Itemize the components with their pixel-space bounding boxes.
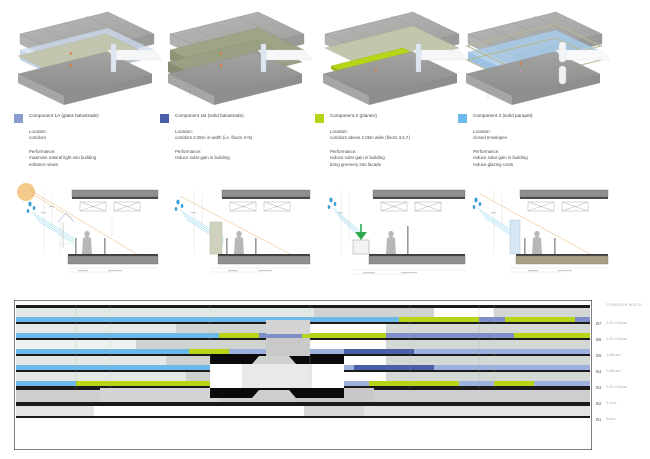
legend-component-1b: Component 1B (solid balustrade) Location… bbox=[160, 113, 335, 162]
floor-label-row-b5: B5 2.05max. bbox=[596, 353, 650, 363]
legend-2-title: Component 2 (planter) bbox=[330, 113, 377, 119]
section-drawings-row bbox=[0, 182, 650, 286]
section-1a-graphic bbox=[8, 182, 160, 286]
rain-icon bbox=[175, 200, 184, 211]
legend-1a-location: Location: corridors bbox=[29, 129, 164, 142]
human-figure-icon bbox=[82, 231, 92, 256]
isometric-1a-graphic bbox=[12, 4, 162, 112]
performance-value-2: bring greenery into facade bbox=[330, 162, 475, 168]
floor-label-row-b3: B3 2.05-4.6max. bbox=[596, 385, 650, 395]
legend-1b-performance: Performance: reduce solar gain in buildi… bbox=[175, 149, 335, 162]
human-figure-icon bbox=[532, 231, 542, 256]
lower-slab bbox=[218, 256, 310, 264]
human-figure-icon bbox=[234, 231, 244, 256]
legend-2-header: Component 2 (planter) bbox=[315, 113, 475, 123]
floor-label-row-b1: B1 0max. bbox=[596, 417, 650, 427]
legend-3-performance: Performance: reduce solar gain in buildi… bbox=[473, 149, 628, 168]
section-component-1a bbox=[8, 182, 160, 286]
lower-slab bbox=[68, 256, 158, 264]
isometric-1b-graphic bbox=[162, 4, 312, 112]
floor-label-row-b6: B6 2.05-4.6max. bbox=[596, 337, 650, 347]
legend-1a-header: Component 1A (glass balustrade) bbox=[14, 113, 164, 123]
corridor-width-value: 2.05max. bbox=[606, 353, 622, 357]
performance-value-2: reduce glazing costs bbox=[473, 162, 628, 168]
isometric-row bbox=[0, 0, 650, 112]
legend-3-title: Component 3 (solid parapet) bbox=[473, 113, 533, 119]
swatch-icon-1b bbox=[160, 114, 169, 123]
floor-id: B1 bbox=[596, 417, 601, 422]
section-1b-graphic bbox=[160, 182, 312, 286]
isometric-component-1b bbox=[162, 4, 312, 112]
section-component-3 bbox=[458, 182, 610, 286]
location-value: corridors 2.05m in width (i.e. floors 4+… bbox=[175, 135, 335, 141]
performance-value-2: enhance views bbox=[29, 162, 164, 168]
swatch-icon-2 bbox=[315, 114, 324, 123]
floor-id: B2 bbox=[596, 401, 601, 406]
legend-component-3: Component 3 (solid parapet) Location: cl… bbox=[458, 113, 628, 168]
section-component-1b bbox=[160, 182, 312, 286]
corridor-width-value: 2.05max. bbox=[606, 369, 622, 373]
section-3-graphic bbox=[458, 182, 610, 286]
floor-label-row-b4: B4 2.05max. bbox=[596, 369, 650, 379]
corridor-width-header: CORRIDOR WIDTH bbox=[606, 303, 642, 307]
legend-2-location: Location: corridors above 2.05m wide (fl… bbox=[330, 129, 475, 142]
rain-icon bbox=[27, 202, 36, 213]
legend-1a-title: Component 1A (glass balustrade) bbox=[29, 113, 99, 119]
ceiling-truss bbox=[528, 202, 588, 211]
swatch-icon-1a bbox=[14, 114, 23, 123]
legend-3-location: Location: closed envelopes bbox=[473, 129, 628, 142]
section-component-2 bbox=[315, 182, 467, 286]
corridor-width-value: 2.05-4.6max. bbox=[606, 321, 628, 325]
location-value: closed envelopes bbox=[473, 135, 628, 141]
ceiling-truss bbox=[381, 202, 441, 211]
swatch-icon-3 bbox=[458, 114, 467, 123]
solid-parapet-element bbox=[510, 220, 520, 254]
floor-band-b1 bbox=[16, 404, 590, 418]
location-value: corridors above 2.05m wide (floors 3,6,7… bbox=[330, 135, 475, 141]
isometric-component-2 bbox=[317, 4, 467, 112]
floor-id: B3 bbox=[596, 385, 601, 390]
legend-1b-title: Component 1B (solid balustrade) bbox=[175, 113, 244, 119]
legend-3-header: Component 3 (solid parapet) bbox=[458, 113, 628, 123]
upper-slab bbox=[373, 190, 465, 197]
rain-icon bbox=[473, 198, 482, 209]
section-2-graphic bbox=[315, 182, 467, 286]
legend-1b-location: Location: corridors 2.05m in width (i.e.… bbox=[175, 129, 335, 142]
corridor-width-value: 0max. bbox=[606, 417, 616, 421]
upper-slab bbox=[520, 190, 608, 197]
elevation-graphic bbox=[14, 300, 592, 450]
floor-id: B7 bbox=[596, 321, 601, 326]
greenery-icon bbox=[355, 224, 367, 240]
performance-value-1: reduce solar gain in building bbox=[175, 155, 335, 161]
corridor-width-value: 0 max. bbox=[606, 401, 617, 405]
solid-balustrade-element bbox=[210, 222, 222, 254]
corridor-width-value: 2.05-4.6max. bbox=[606, 337, 628, 341]
legend-1a-performance: Performance: maximise natural light into… bbox=[29, 149, 164, 168]
legend-component-1a: Component 1A (glass balustrade) Location… bbox=[14, 113, 164, 168]
rain-icon bbox=[328, 198, 337, 209]
upper-slab bbox=[72, 190, 158, 197]
upper-slab bbox=[222, 190, 310, 197]
floor-id: B6 bbox=[596, 337, 601, 342]
building-elevation-diagram bbox=[14, 300, 592, 450]
floor-id: B4 bbox=[596, 369, 601, 374]
legend-2-performance: Performance: reduce solar gain in buildi… bbox=[330, 149, 475, 168]
ceiling-truss bbox=[230, 202, 290, 211]
corridor-width-value: 2.05-4.6max. bbox=[606, 385, 628, 389]
legend-row: Component 1A (glass balustrade) Location… bbox=[0, 113, 650, 181]
isometric-2-graphic bbox=[317, 4, 467, 112]
legend-1b-header: Component 1B (solid balustrade) bbox=[160, 113, 335, 123]
human-figure-icon bbox=[386, 231, 396, 256]
planter-element bbox=[353, 240, 369, 254]
lower-slab bbox=[516, 256, 608, 264]
isometric-component-3 bbox=[460, 4, 610, 112]
floor-label-row-b2: B2 0 max. bbox=[596, 401, 650, 411]
elevation-floor-labels: CORRIDOR WIDTH B7 2.05-4.6max. B6 2.05-4… bbox=[596, 300, 650, 450]
isometric-3-graphic bbox=[460, 4, 610, 112]
daylight-ray-lines bbox=[32, 212, 74, 244]
floor-label-row-b7: B7 2.05-4.6max. bbox=[596, 321, 650, 331]
floor-id: B5 bbox=[596, 353, 601, 358]
ceiling-truss bbox=[80, 202, 140, 211]
lower-slab bbox=[369, 256, 465, 264]
sun-icon bbox=[17, 183, 35, 201]
isometric-component-1a bbox=[12, 4, 162, 112]
legend-component-2: Component 2 (planter) Location: corridor… bbox=[315, 113, 475, 168]
facade-component-sheet: Component 1A (glass balustrade) Location… bbox=[0, 0, 650, 459]
location-value: corridors bbox=[29, 135, 164, 141]
